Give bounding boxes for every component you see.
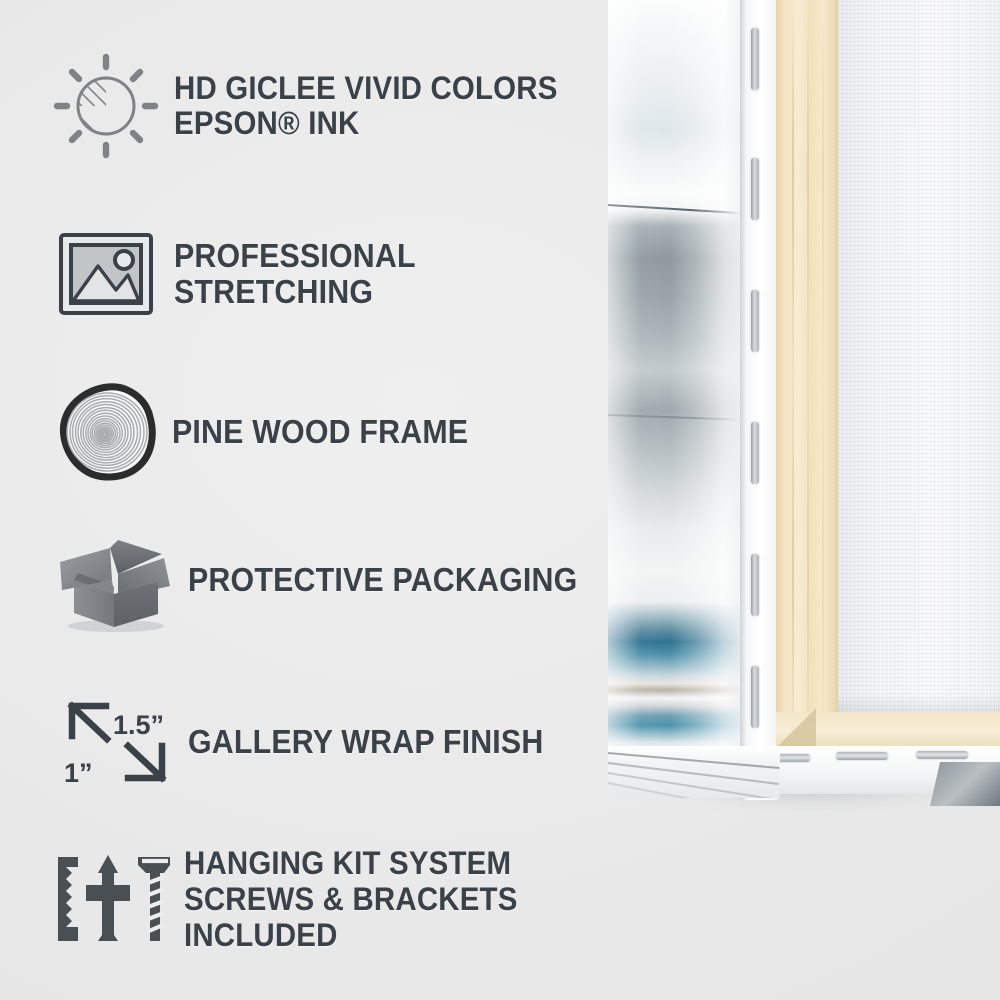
- feature-label: GALLERY WRAP FINISH: [188, 724, 543, 760]
- staple: [916, 751, 968, 759]
- feature-item-pine-wood-frame: PINE WOOD FRAME: [58, 383, 494, 481]
- staple: [836, 752, 888, 760]
- product-feature-infographic: HD GICLEE VIVID COLORS EPSON® INK PROFES…: [0, 0, 1000, 1000]
- pine-stretcher-bar: [776, 0, 840, 784]
- staple: [751, 28, 759, 90]
- frame-corner-joint: [776, 708, 816, 748]
- staple: [751, 554, 759, 616]
- staple: [751, 290, 759, 352]
- framed-picture-icon: [52, 228, 160, 320]
- feature-label: HD GICLEE VIVID COLORS EPSON® INK: [174, 71, 558, 140]
- feature-item-hd-giclee: HD GICLEE VIVID COLORS EPSON® INK: [52, 52, 591, 160]
- staple: [751, 422, 759, 484]
- feature-list: HD GICLEE VIVID COLORS EPSON® INK PROFES…: [0, 0, 640, 1000]
- printed-wrap-edge: [608, 0, 743, 794]
- tree-rings-icon: [58, 383, 158, 481]
- feature-item-professional-stretching: PROFESSIONAL STRETCHING: [52, 228, 640, 320]
- sun-brightness-icon: [52, 52, 160, 160]
- feature-label: PINE WOOD FRAME: [172, 414, 468, 450]
- feature-label: PROTECTIVE PACKAGING: [188, 562, 577, 598]
- feature-item-gallery-wrap-finish: 1.5” 1” GALLERY WRAP FINISH: [60, 694, 574, 790]
- frame-underside: [930, 762, 1000, 806]
- open-box-icon: [52, 528, 174, 632]
- wrap-edge-bottom-stripes: [608, 746, 780, 798]
- hanging-hardware-icon: [52, 851, 170, 947]
- canvas-fold-strip: [740, 0, 778, 800]
- canvas-corner-photo: [600, 0, 1000, 814]
- feature-item-protective-packaging: PROTECTIVE PACKAGING: [52, 528, 611, 632]
- feature-item-hanging-kit: HANGING KIT SYSTEM SCREWS & BRACKETS INC…: [52, 845, 640, 953]
- staple: [751, 666, 759, 728]
- depth-label-bottom: 1”: [64, 758, 93, 788]
- feature-label: HANGING KIT SYSTEM SCREWS & BRACKETS INC…: [184, 845, 604, 953]
- canvas-back-weave: [838, 0, 1000, 774]
- diagonal-resize-arrow-icon: 1.5” 1”: [60, 694, 174, 790]
- staple: [751, 158, 759, 220]
- depth-label-top: 1.5”: [113, 710, 164, 740]
- feature-label: PROFESSIONAL STRETCHING: [174, 238, 603, 309]
